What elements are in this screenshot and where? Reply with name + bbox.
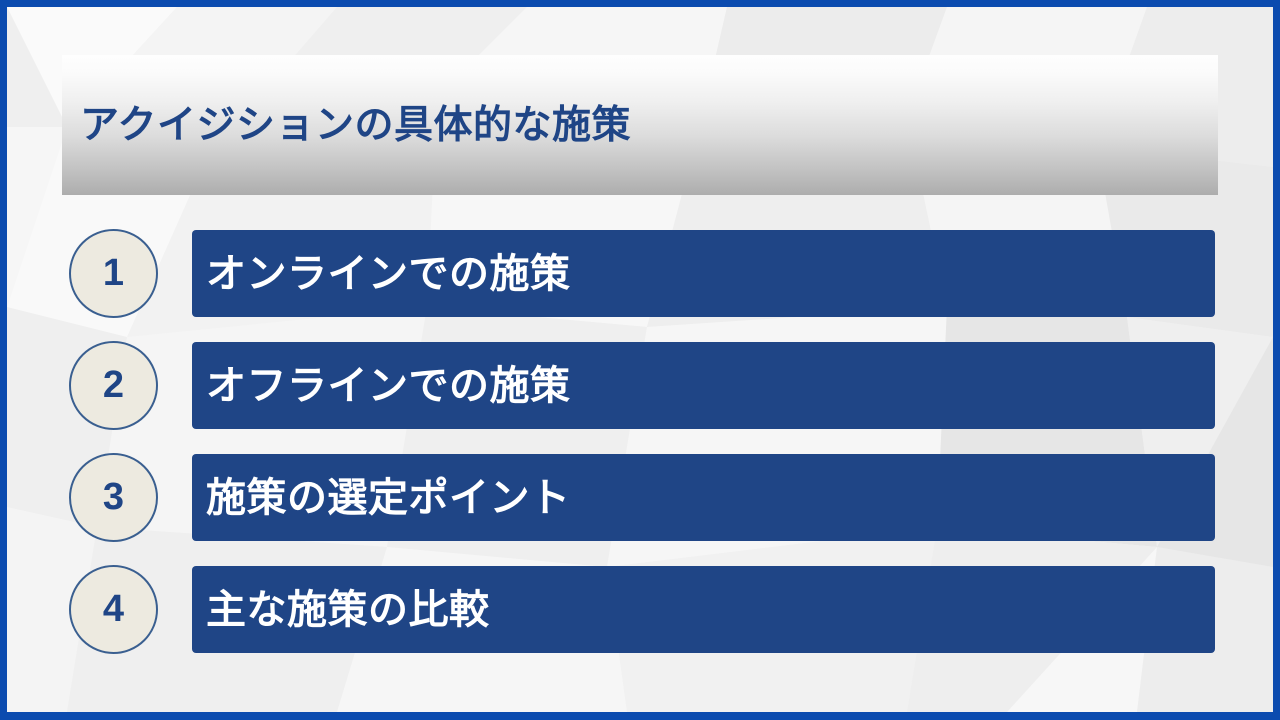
item-bar[interactable]: 主な施策の比較 (192, 566, 1215, 653)
list-item[interactable]: 4 主な施策の比較 (7, 556, 1273, 668)
item-number-label: 2 (103, 366, 124, 404)
item-number-label: 4 (103, 590, 124, 628)
list-item[interactable]: 1 オンラインでの施策 (7, 220, 1273, 332)
item-bar[interactable]: オンラインでの施策 (192, 230, 1215, 317)
item-label: 主な施策の比較 (206, 590, 490, 630)
list-item[interactable]: 2 オフラインでの施策 (7, 332, 1273, 444)
item-number-label: 1 (103, 254, 124, 292)
item-label: 施策の選定ポイント (206, 478, 571, 518)
page-title: アクイジションの具体的な施策 (80, 106, 631, 145)
slide-frame: アクイジションの具体的な施策 1 オンラインでの施策 2 オフラインでの施策 (0, 0, 1280, 720)
item-label: オンラインでの施策 (206, 254, 571, 294)
item-number-label: 3 (103, 478, 124, 516)
slide-canvas: アクイジションの具体的な施策 1 オンラインでの施策 2 オフラインでの施策 (7, 7, 1273, 712)
item-number-badge: 3 (69, 453, 158, 542)
item-bar[interactable]: 施策の選定ポイント (192, 454, 1215, 541)
item-bar[interactable]: オフラインでの施策 (192, 342, 1215, 429)
list-item[interactable]: 3 施策の選定ポイント (7, 444, 1273, 556)
agenda-list: 1 オンラインでの施策 2 オフラインでの施策 3 施策の選 (7, 220, 1273, 668)
item-label: オフラインでの施策 (206, 366, 571, 406)
item-number-badge: 2 (69, 341, 158, 430)
slide-title-banner: アクイジションの具体的な施策 (62, 55, 1218, 195)
item-number-badge: 4 (69, 565, 158, 654)
item-number-badge: 1 (69, 229, 158, 318)
